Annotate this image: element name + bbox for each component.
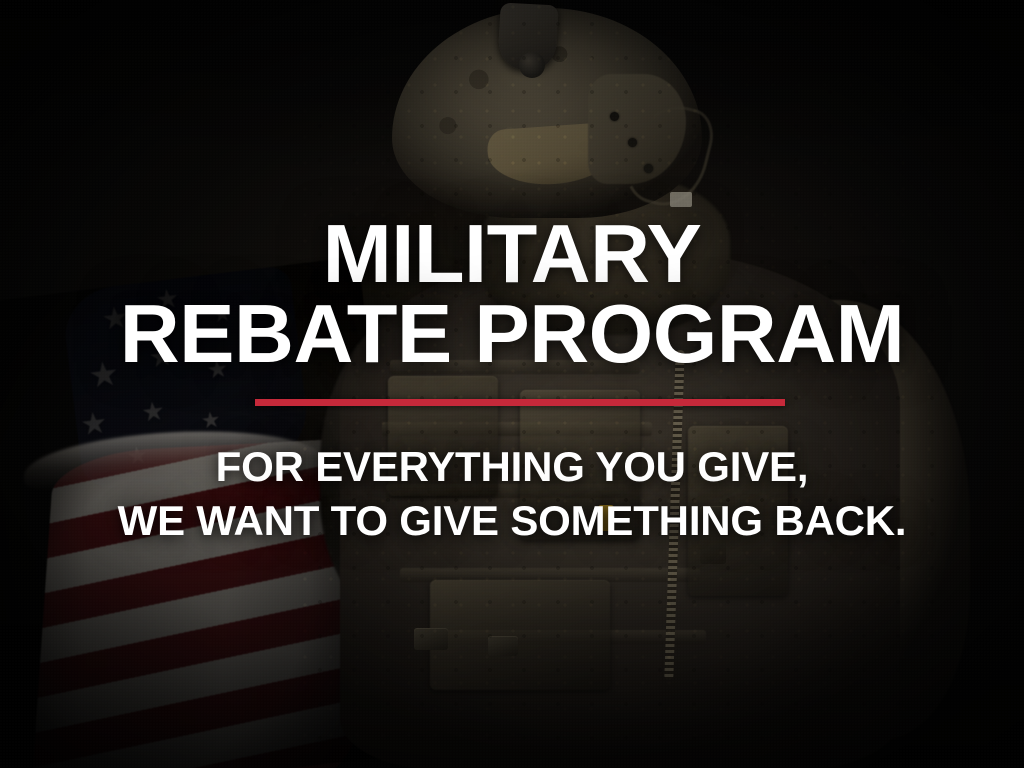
- text-overlay: MILITARY REBATE PROGRAM FOR EVERYTHING Y…: [0, 0, 1024, 768]
- red-divider-rule: [255, 399, 785, 406]
- military-rebate-poster: ★ ★ ★ ★ ★ ★ ★ ★ ★ ★: [0, 0, 1024, 768]
- subheadline-line-2: WE WANT TO GIVE SOMETHING BACK.: [0, 500, 1024, 542]
- headline-line-1: MILITARY: [0, 214, 1024, 294]
- subheadline-line-1: FOR EVERYTHING YOU GIVE,: [0, 446, 1024, 488]
- headline-line-2: REBATE PROGRAM: [0, 294, 1024, 374]
